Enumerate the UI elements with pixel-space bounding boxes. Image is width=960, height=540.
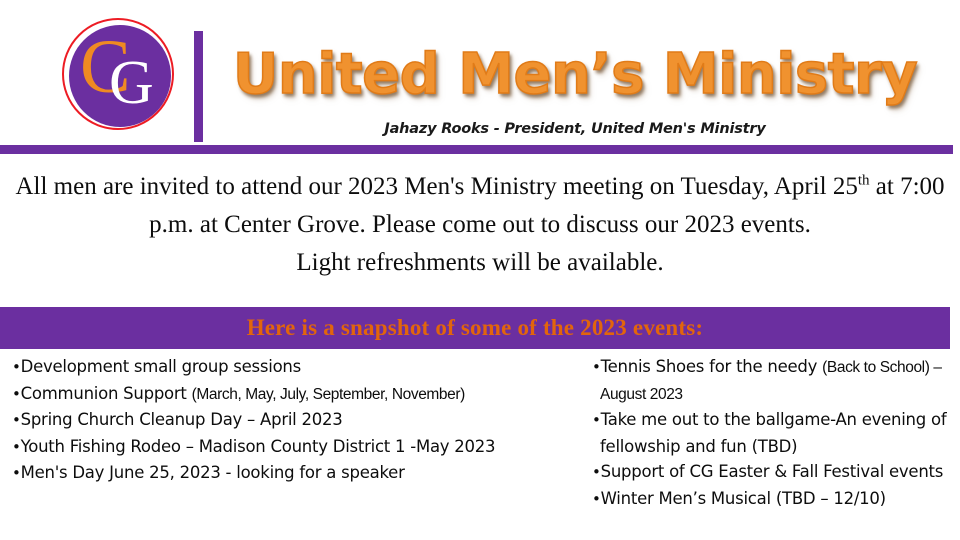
invitation-paragraph: All men are invited to attend our 2023 M…: [14, 168, 946, 282]
bullet-dot-icon: •: [592, 358, 601, 376]
event-item-text: Winter Men’s Musical (TBD – 12/10): [601, 489, 886, 508]
event-list-item: •Winter Men’s Musical (TBD – 12/10): [592, 486, 952, 513]
event-item-text: Tennis Shoes for the needy: [601, 357, 823, 376]
event-list-item: •Tennis Shoes for the needy (Back to Sch…: [592, 354, 952, 407]
logo-monogram: C G: [62, 18, 178, 134]
invitation-line2: Light refreshments will be available.: [296, 249, 663, 276]
logo-letter-g: G: [109, 52, 154, 114]
event-list-item: •Men's Day June 25, 2023 - looking for a…: [12, 460, 582, 487]
events-lists: •Development small group sessions•Commun…: [0, 354, 960, 540]
events-right-column: •Tennis Shoes for the needy (Back to Sch…: [592, 354, 952, 512]
header-divider-rule: [0, 145, 953, 154]
page-subtitle: Jahazy Rooks - President, United Men's M…: [225, 120, 925, 138]
page-title: United Men’s Ministry: [225, 42, 925, 108]
invitation-line1-part1: All men are invited to attend our 2023 M…: [15, 173, 857, 200]
bullet-dot-icon: •: [592, 411, 601, 429]
bullet-dot-icon: •: [12, 438, 21, 456]
event-item-detail: (March, May, July, September, November): [192, 386, 465, 403]
bullet-dot-icon: •: [12, 385, 21, 403]
bullet-dot-icon: •: [592, 463, 601, 481]
event-list-item: •Development small group sessions: [12, 354, 582, 381]
flyer-slide: { "header": { "logo": { "name": "cg-mono…: [0, 0, 960, 540]
bullet-dot-icon: •: [592, 490, 601, 508]
flyer-header: C G United Men’s Ministry United Men’s M…: [0, 0, 960, 148]
header-vertical-accent-bar: [194, 31, 203, 142]
cg-monogram-logo: C G: [62, 18, 178, 134]
events-left-column: •Development small group sessions•Commun…: [12, 354, 582, 487]
event-list-item: •Communion Support (March, May, July, Se…: [12, 381, 582, 408]
event-item-text: Men's Day June 25, 2023 - looking for a …: [21, 463, 405, 482]
events-banner-heading: Here is a snapshot of some of the 2023 e…: [0, 307, 950, 349]
events-banner: Here is a snapshot of some of the 2023 e…: [0, 307, 950, 349]
bullet-dot-icon: •: [12, 358, 21, 376]
event-list-item: •Support of CG Easter & Fall Festival ev…: [592, 459, 952, 486]
event-item-text: Spring Church Cleanup Day – April 2023: [21, 410, 343, 429]
event-list-item: •Spring Church Cleanup Day – April 2023: [12, 407, 582, 434]
event-item-text: Support of CG Easter & Fall Festival eve…: [601, 462, 944, 481]
event-item-text: Development small group sessions: [21, 357, 301, 376]
event-item-text: Communion Support: [21, 384, 192, 403]
event-list-item: •Youth Fishing Rodeo – Madison County Di…: [12, 434, 582, 461]
bullet-dot-icon: •: [12, 411, 21, 429]
event-item-text: Youth Fishing Rodeo – Madison County Dis…: [21, 437, 496, 456]
event-item-text: Take me out to the ballgame-An evening o…: [600, 410, 946, 456]
event-list-item: •Take me out to the ballgame-An evening …: [592, 407, 952, 459]
bullet-dot-icon: •: [12, 464, 21, 482]
invitation-ordinal-suffix: th: [858, 173, 870, 189]
